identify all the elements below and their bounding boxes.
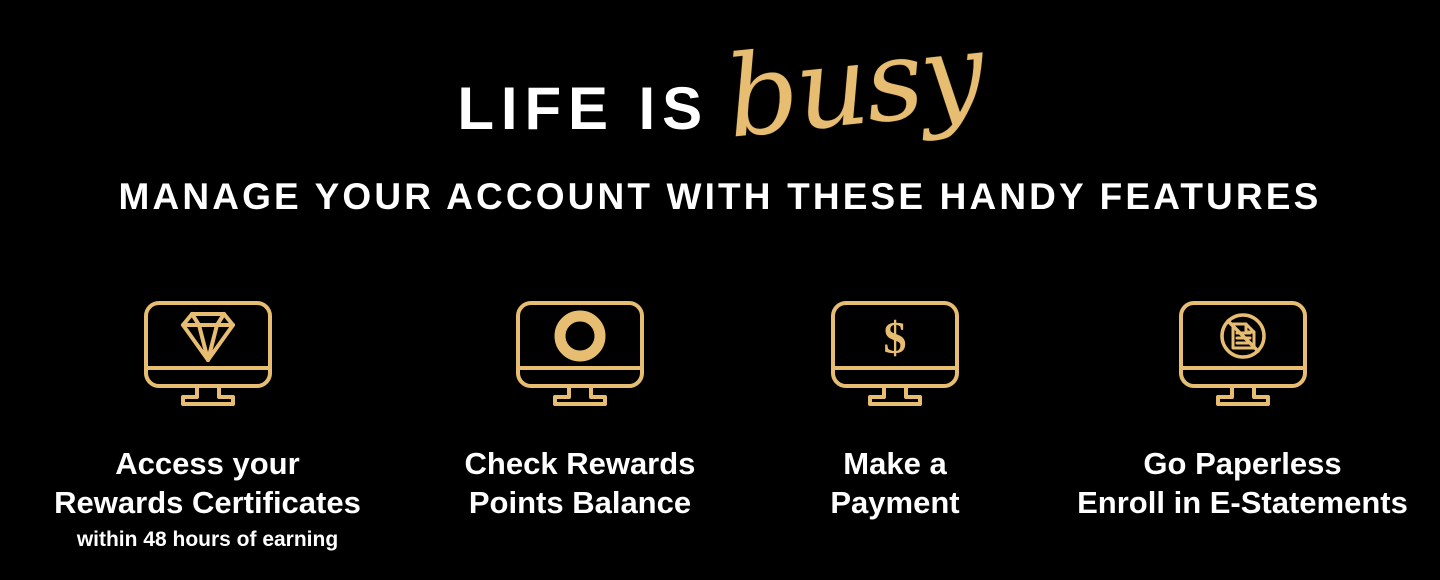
caption-line-1: Make a	[830, 444, 959, 483]
feature-item-go-paperless[interactable]: Go Paperless Enroll in E-Statements	[1045, 300, 1440, 527]
promo-banner: LIFE IS busy MANAGE YOUR ACCOUNT WITH TH…	[0, 0, 1440, 580]
feature-caption: Go Paperless Enroll in E-Statements	[1077, 444, 1408, 523]
monitor-dollar-icon: $	[830, 300, 960, 408]
feature-caption: Make a Payment	[830, 444, 959, 523]
caption-line-1: Access your	[54, 444, 361, 483]
headline-script-text: busy	[721, 17, 987, 155]
caption-line-2: Payment	[830, 483, 959, 522]
caption-line-1: Go Paperless	[1077, 444, 1408, 483]
feature-item-points-balance[interactable]: Check Rewards Points Balance	[415, 300, 745, 527]
caption-line-2: Enroll in E-Statements	[1077, 483, 1408, 522]
feature-item-rewards-certificates[interactable]: Access your Rewards Certificates within …	[0, 300, 415, 552]
headline-main-text: LIFE IS	[457, 79, 709, 139]
monitor-no-paper-icon	[1178, 300, 1308, 408]
caption-line-2: Points Balance	[465, 483, 696, 522]
caption-line-2: Rewards Certificates	[54, 483, 361, 522]
headline: LIFE IS busy	[0, 18, 1440, 168]
caption-line-1: Check Rewards	[465, 444, 696, 483]
monitor-ring-icon	[515, 300, 645, 408]
feature-caption: Access your Rewards Certificates	[54, 444, 361, 523]
feature-caption: Check Rewards Points Balance	[465, 444, 696, 523]
feature-item-make-payment[interactable]: $ Make a Payment	[745, 300, 1045, 527]
svg-text:$: $	[884, 312, 907, 363]
feature-list: Access your Rewards Certificates within …	[0, 300, 1440, 570]
feature-note: within 48 hours of earning	[77, 527, 338, 552]
monitor-diamond-icon	[143, 300, 273, 408]
subheading: MANAGE YOUR ACCOUNT WITH THESE HANDY FEA…	[0, 176, 1440, 218]
